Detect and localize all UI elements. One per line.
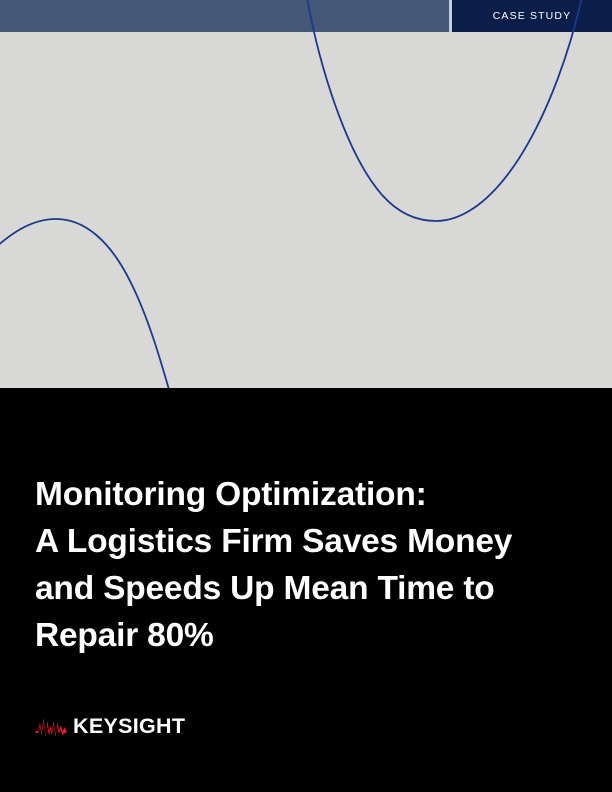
header-left-panel [0, 0, 449, 32]
case-study-badge-label: CASE STUDY [452, 0, 612, 32]
valley-curve-right-path [306, 0, 583, 221]
case-study-cover-page: CASE STUDY Monitoring Optimization: A Lo… [0, 0, 612, 792]
title-line-2: A Logistics Firm Saves Money [35, 518, 575, 565]
keysight-wordmark: KEYSIGHT [73, 716, 185, 737]
page-title: Monitoring Optimization: A Logistics Fir… [35, 471, 575, 659]
title-line-4: Repair 80% [35, 612, 575, 659]
title-line-1: Monitoring Optimization: [35, 471, 575, 518]
header-band: CASE STUDY [0, 0, 612, 32]
hero-graphic-area [0, 0, 612, 388]
keysight-waveform-mark-icon [35, 716, 67, 737]
content-panel: Monitoring Optimization: A Logistics Fir… [0, 388, 612, 792]
peak-curve-left-path [0, 219, 172, 388]
decorative-curve-layer [0, 0, 612, 388]
keysight-logo: KEYSIGHT [35, 716, 185, 737]
title-line-3: and Speeds Up Mean Time to [35, 565, 575, 612]
